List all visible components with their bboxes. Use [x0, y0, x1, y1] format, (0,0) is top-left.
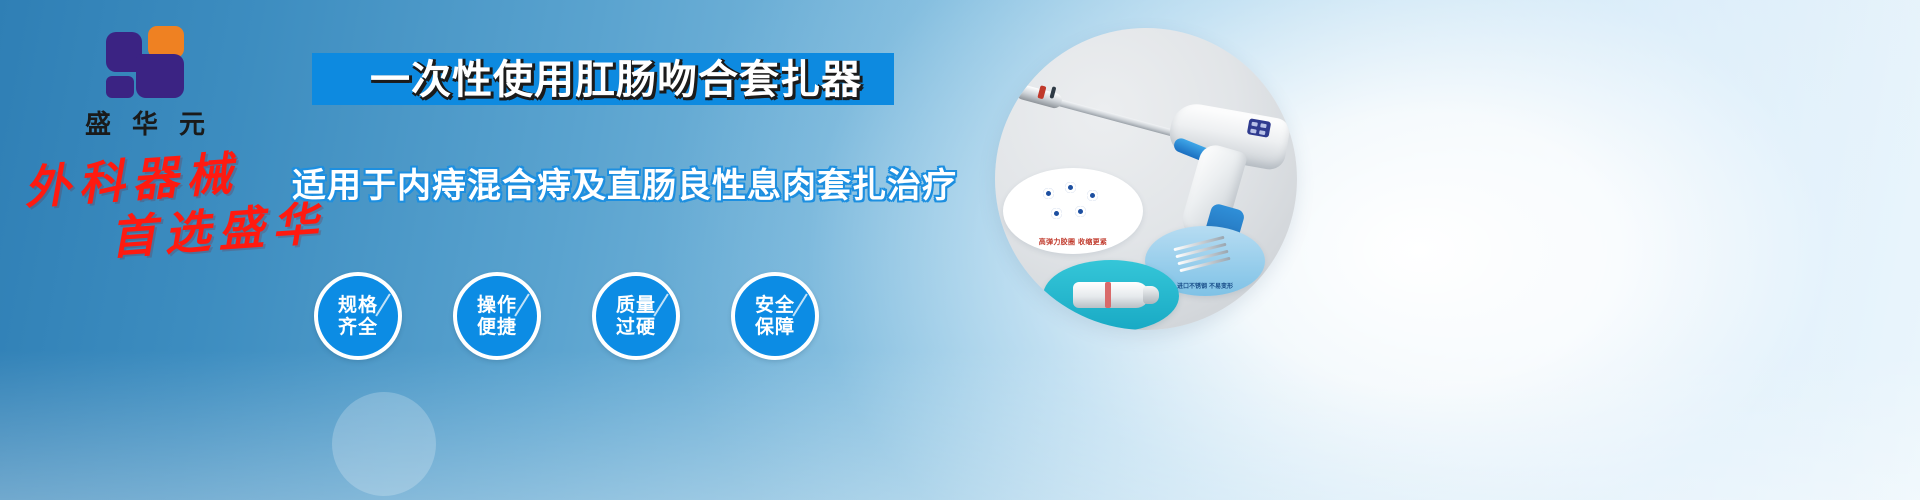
- feature-badge-0[interactable]: 规格 齐全: [314, 272, 402, 360]
- feature-badges: 规格 齐全 操作 便捷 质量 过硬 安全 保障: [312, 272, 872, 368]
- feature-badge-3[interactable]: 安全 保障: [731, 272, 819, 360]
- logo-block-bottom: [106, 76, 134, 98]
- feature-badge-1-line2: 便捷: [477, 316, 517, 338]
- page-subtitle: 适用于内痔混合痔及直肠良性息肉套扎治疗: [292, 158, 912, 207]
- product-photo: 高弹力胶圈 收缩更紧 进口不锈钢 不易变形: [995, 28, 1297, 330]
- rubber-ring-icon: [1075, 206, 1086, 217]
- promo-banner: 盛 华 元 外科器械 首选盛华 一次性使用肛肠吻合套扎器 适用于内痔混合痔及直肠…: [0, 0, 1920, 500]
- brand-logo[interactable]: 盛 华 元: [60, 26, 230, 141]
- cylinder-tip: [1143, 286, 1159, 304]
- cylinder-body: [1073, 282, 1149, 308]
- feature-badge-1[interactable]: 操作 便捷: [453, 272, 541, 360]
- brand-name: 盛 华 元: [60, 104, 230, 141]
- page-title: 一次性使用肛肠吻合套扎器: [336, 54, 896, 106]
- feature-badge-2[interactable]: 质量 过硬: [592, 272, 680, 360]
- rubber-ring-icon: [1051, 208, 1062, 219]
- rubber-ring-icon: [1043, 188, 1054, 199]
- shenghuayuan-blocks-logo-icon: [106, 26, 184, 98]
- feature-badge-1-line1: 操作: [477, 294, 517, 316]
- inset-rings-caption: 高弹力胶圈 收缩更紧: [1003, 237, 1143, 247]
- inset-cylinder: [1043, 260, 1179, 330]
- inset-rubber-rings: 高弹力胶圈 收缩更紧: [1003, 168, 1143, 254]
- logo-block-right: [136, 54, 184, 98]
- feature-badge-0-line2: 齐全: [338, 316, 378, 338]
- decorative-circle: [332, 392, 436, 496]
- cylinder-band: [1105, 282, 1111, 308]
- feature-badge-0-line1: 规格: [338, 294, 378, 316]
- feature-badge-2-line2: 过硬: [616, 316, 656, 338]
- rubber-ring-icon: [1087, 190, 1098, 201]
- feature-badge-3-line2: 保障: [755, 316, 795, 338]
- feature-badge-2-line1: 质量: [616, 294, 656, 316]
- feature-badge-3-line1: 安全: [755, 294, 795, 316]
- rubber-ring-icon: [1065, 182, 1076, 193]
